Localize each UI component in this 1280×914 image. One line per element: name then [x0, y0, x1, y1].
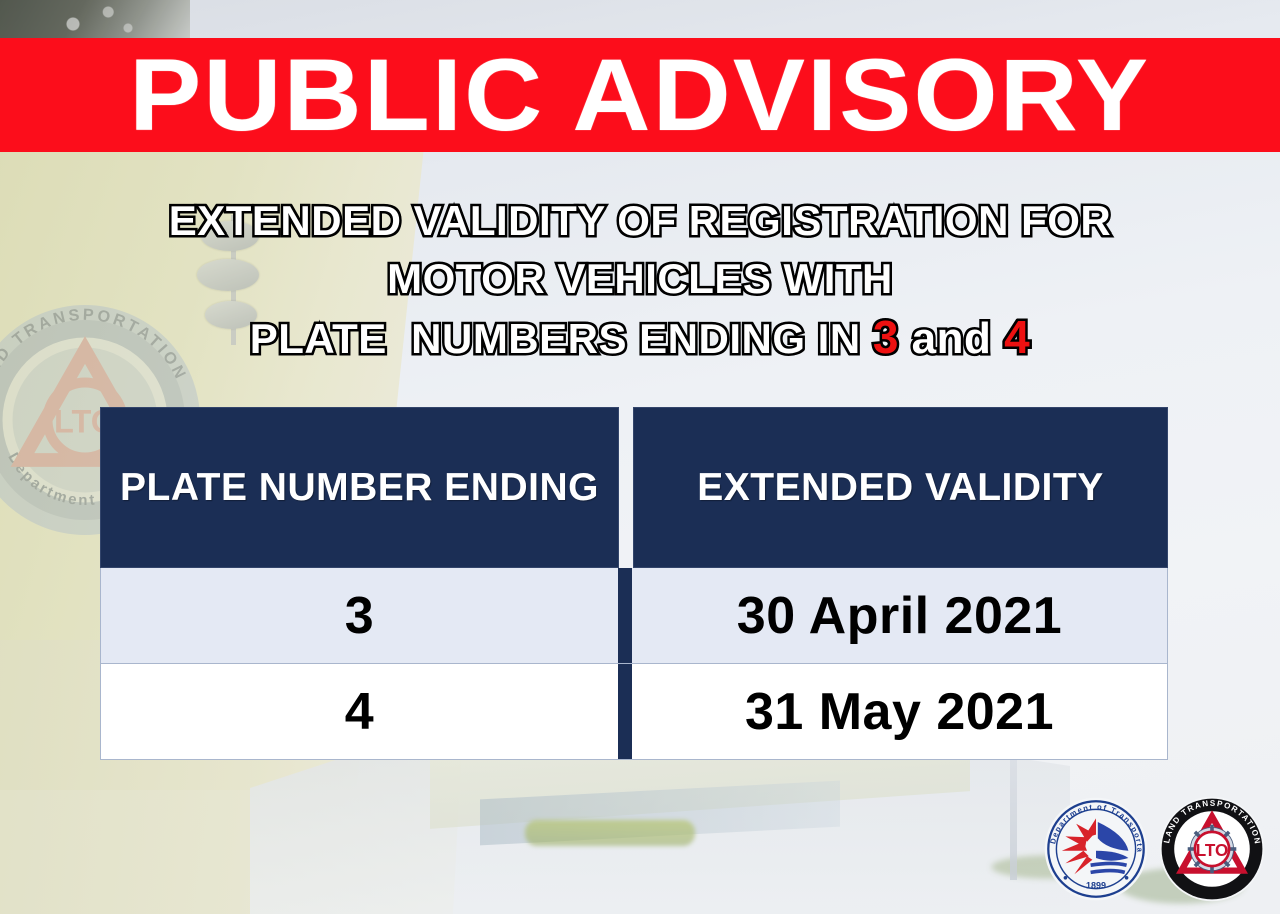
cell-extended-validity: 30 April 2021	[632, 568, 1167, 663]
tree-foliage-top-left	[0, 0, 190, 42]
table-header-row: PLATE NUMBER ENDING EXTENDED VALIDITY	[100, 407, 1168, 568]
subtitle-line-2: MOTOR VEHICLES WITH	[0, 250, 1280, 308]
svg-text:★: ★	[1174, 846, 1181, 855]
public-advisory-banner: PUBLIC ADVISORY	[0, 38, 1280, 152]
subtitle-line-3-prefix: PLATE NUMBERS ENDING IN	[250, 315, 873, 362]
svg-text:★: ★	[1243, 846, 1250, 855]
cell-plate-ending: 3	[101, 568, 618, 663]
column-divider	[618, 664, 632, 759]
svg-text:LTO: LTO	[1196, 841, 1229, 860]
dotr-logo: Department of Transportation 1899	[1042, 795, 1150, 903]
cell-plate-ending: 4	[101, 664, 618, 759]
subtitle-line-3: PLATE NUMBERS ENDING IN 3 and 4	[0, 308, 1280, 368]
agency-logos: Department of Transportation 1899	[1042, 795, 1266, 903]
svg-text:1899: 1899	[1086, 881, 1106, 891]
cell-extended-validity: 31 May 2021	[632, 664, 1167, 759]
table-header-plate-number-ending: PLATE NUMBER ENDING	[100, 407, 619, 568]
table-header-extended-validity: EXTENDED VALIDITY	[633, 407, 1168, 568]
subtitle-line-1: EXTENDED VALIDITY OF REGISTRATION FOR	[0, 192, 1280, 250]
table-row: 3 30 April 2021	[100, 568, 1168, 664]
subtitle-conjunction: and	[899, 314, 1004, 363]
plate-digit-4: 4	[1004, 311, 1030, 363]
page-title: PUBLIC ADVISORY	[129, 44, 1150, 146]
extended-validity-table: PLATE NUMBER ENDING EXTENDED VALIDITY 3 …	[100, 407, 1168, 760]
lto-logo: LAND TRANSPORTATION OFFICE Department of…	[1158, 795, 1266, 903]
table-row: 4 31 May 2021	[100, 664, 1168, 760]
column-divider	[618, 568, 632, 663]
advisory-poster: LAND TRANSPORTATION Department of LTO PU…	[0, 0, 1280, 914]
advisory-subtitle: EXTENDED VALIDITY OF REGISTRATION FOR MO…	[0, 192, 1280, 368]
plate-digit-3: 3	[873, 311, 899, 363]
